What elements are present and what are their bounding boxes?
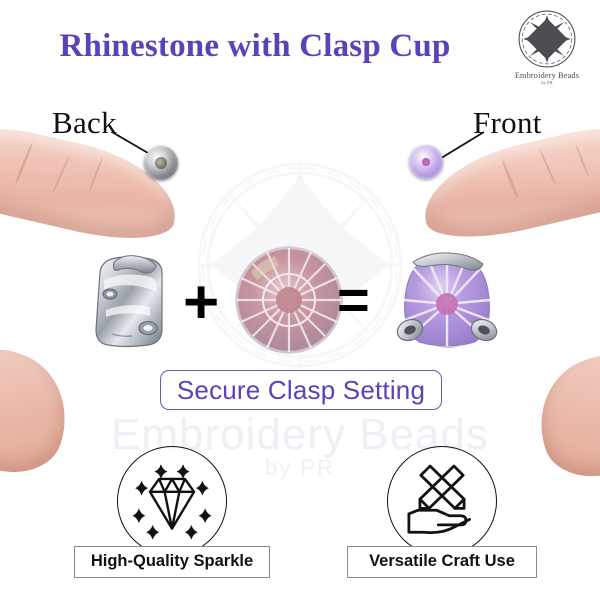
feature-label-sparkle: High-Quality Sparkle: [74, 546, 270, 578]
badge-circle: [117, 446, 227, 556]
finger-bottom-left: [0, 335, 83, 486]
feature-badge-sparkle: High-Quality Sparkle: [72, 446, 272, 578]
diamond-with-sparkles-icon: [126, 455, 218, 547]
brand-logo: Embroidery Beads by PR: [504, 8, 590, 92]
brand-star-icon: [516, 8, 578, 70]
secure-clasp-setting-text: Secure Clasp Setting: [177, 375, 425, 406]
rhinestone-back-view-bead: [144, 146, 178, 180]
badge-circle: [387, 446, 497, 556]
feature-badge-craft: Versatile Craft Use: [342, 446, 542, 578]
brand-logo-name: Embroidery Beads: [504, 71, 590, 80]
silver-clasp-cup-icon: [92, 250, 170, 350]
round-faceted-rhinestone-icon: [235, 246, 343, 354]
equation-plus-operator: +: [183, 272, 219, 334]
callout-label-back: Back: [52, 105, 117, 141]
feature-label-craft: Versatile Craft Use: [347, 546, 537, 578]
rhinestone-in-clasp-cup-icon: [395, 248, 499, 352]
finger-skin: [0, 335, 83, 486]
brand-logo-tagline: by PR: [504, 80, 590, 85]
hand-holding-craft-tools-icon: [396, 455, 488, 547]
secure-clasp-setting-callout: Secure Clasp Setting: [160, 370, 442, 410]
rhinestone-front-view-bead: [409, 145, 443, 179]
infographic-canvas: Embroidery Beads by PR Rhinestone with C…: [0, 0, 600, 600]
equation-equals-operator: =: [337, 272, 370, 328]
